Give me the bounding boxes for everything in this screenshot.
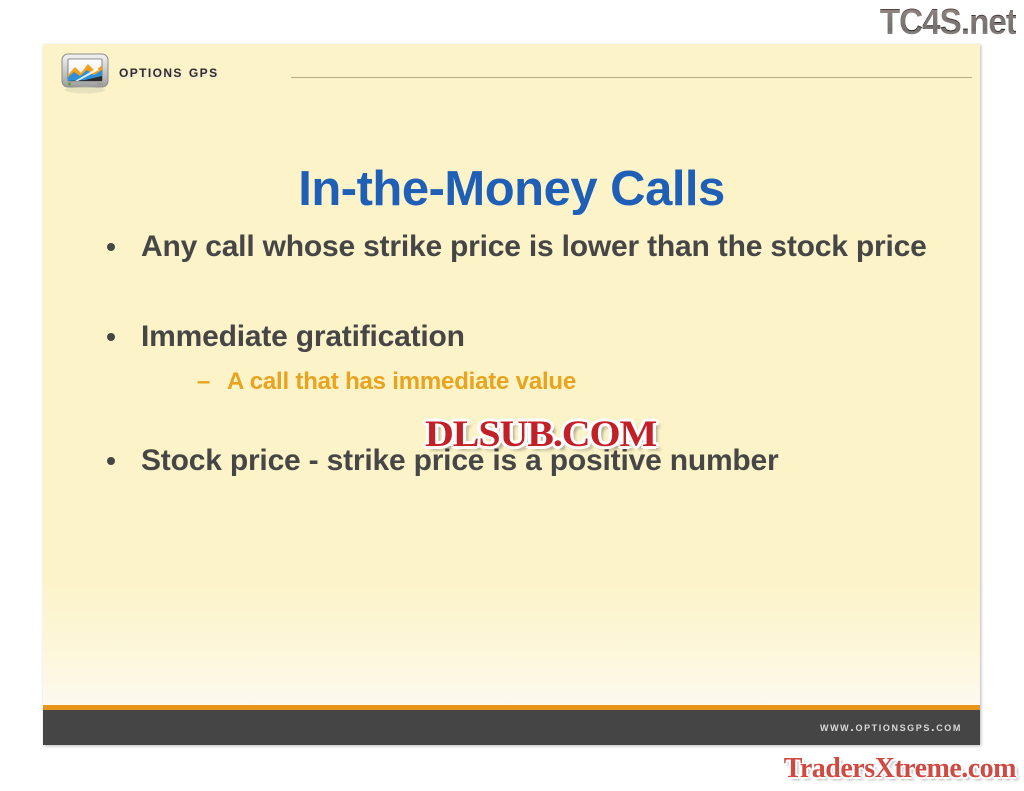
bullet-item: Any call whose strike price is lower tha… — [95, 226, 935, 267]
presentation-slide: Options GPS In-the-Money Calls Any call … — [43, 44, 980, 745]
sub-bullet-item: A call that has immediate value — [197, 365, 935, 398]
brand-label: Options GPS — [119, 62, 218, 82]
header-divider — [291, 77, 972, 78]
slide-header: Options GPS — [43, 44, 980, 102]
bullet-item: Immediate gratification A call that has … — [95, 316, 935, 398]
tradersxtreme-watermark: TradersXtreme.com — [784, 753, 1016, 785]
slide-body: Any call whose strike price is lower tha… — [95, 226, 935, 481]
bullet-text: Immediate gratification — [141, 320, 465, 353]
gps-device-chart-icon — [61, 52, 113, 94]
sub-bullet-text: A call that has immediate value — [227, 368, 576, 395]
footer-url: www.OptionsGPS.com — [820, 719, 962, 734]
slide-background-gradient — [43, 580, 980, 710]
slide-footer: www.OptionsGPS.com — [43, 705, 980, 745]
bullet-text: Any call whose strike price is lower tha… — [141, 230, 927, 263]
tc4s-watermark: TC4S.net — [880, 2, 1016, 42]
dlsub-watermark: DLSUB.COM — [425, 416, 656, 453]
slide-title: In-the-Money Calls — [43, 161, 980, 217]
